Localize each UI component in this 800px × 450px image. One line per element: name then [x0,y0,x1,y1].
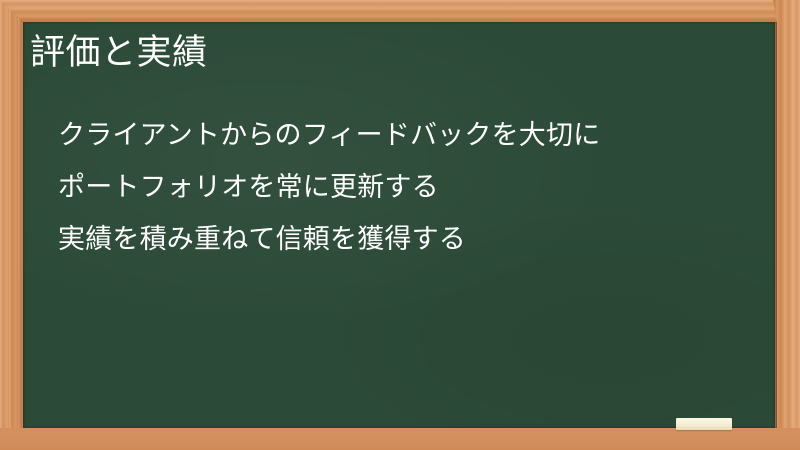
frame-bottom-ledge [0,428,800,450]
frame-right-stile [773,0,800,450]
list-item: クライアントからのフィードバックを大切に [58,109,758,161]
bullet-list: クライアントからのフィードバックを大切に ポートフォリオを常に更新する 実績を積… [58,109,758,265]
chalkboard-slide: 評価と実績 クライアントからのフィードバックを大切に ポートフォリオを常に更新す… [0,0,800,450]
page-title: 評価と実績 [30,31,208,75]
frame-left-stile [0,0,23,450]
list-item: ポートフォリオを常に更新する [58,161,758,213]
frame-top-rail [0,0,800,22]
chalk-stick-icon [676,418,732,430]
list-item: 実績を積み重ねて信頼を獲得する [58,213,758,265]
chalkboard-surface: 評価と実績 クライアントからのフィードバックを大切に ポートフォリオを常に更新す… [22,21,775,429]
